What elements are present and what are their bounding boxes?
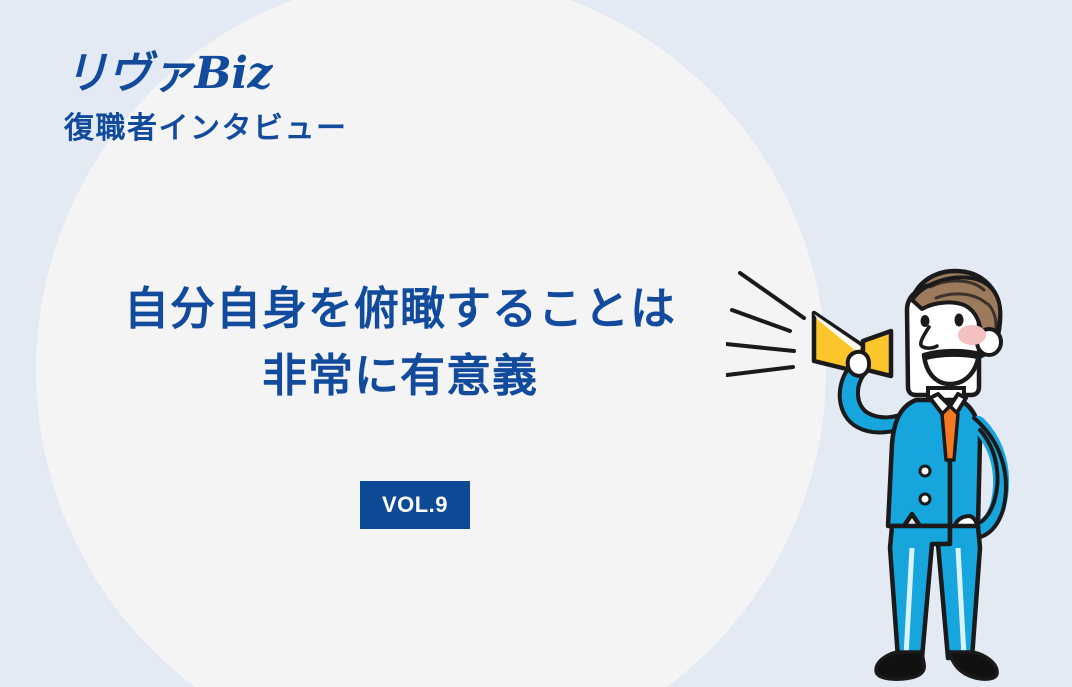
brand-wordmark-logo: リヴァBiz bbox=[64, 44, 314, 100]
volume-badge: VOL.9 bbox=[360, 481, 470, 529]
trousers bbox=[890, 526, 980, 658]
sound-line-2 bbox=[732, 310, 790, 331]
brand-wordmark-text: リヴァBiz bbox=[64, 48, 273, 99]
sound-line-1 bbox=[740, 273, 804, 318]
left-shoe bbox=[876, 652, 924, 679]
gripping-hand bbox=[848, 352, 869, 376]
necktie bbox=[942, 406, 958, 460]
sound-line-3 bbox=[726, 343, 794, 351]
head bbox=[907, 271, 1001, 395]
brand-subtitle: 復職者インタビュー bbox=[64, 114, 484, 144]
sound-lines-icon bbox=[726, 273, 804, 375]
cheek-blush bbox=[958, 325, 986, 345]
businessman-megaphone-illustration bbox=[726, 248, 1072, 687]
jacket-button-lower bbox=[920, 494, 930, 504]
headline-line-1: 自分自身を俯瞰することは bbox=[40, 276, 760, 343]
sound-line-4 bbox=[727, 367, 793, 375]
jacket-button-upper bbox=[920, 466, 930, 476]
headline-line-2: 非常に有意義 bbox=[40, 343, 760, 410]
brand-logo-block: リヴァBiz 復職者インタビュー bbox=[64, 44, 484, 144]
right-eye bbox=[955, 314, 964, 327]
hero-card: リヴァBiz 復職者インタビュー 自分自身を俯瞰することは 非常に有意義 VOL… bbox=[0, 0, 1072, 687]
left-eye bbox=[921, 315, 930, 327]
page-title: 自分自身を俯瞰することは 非常に有意義 bbox=[40, 276, 760, 409]
suit-jacket bbox=[888, 394, 980, 526]
right-shoe bbox=[950, 652, 997, 679]
